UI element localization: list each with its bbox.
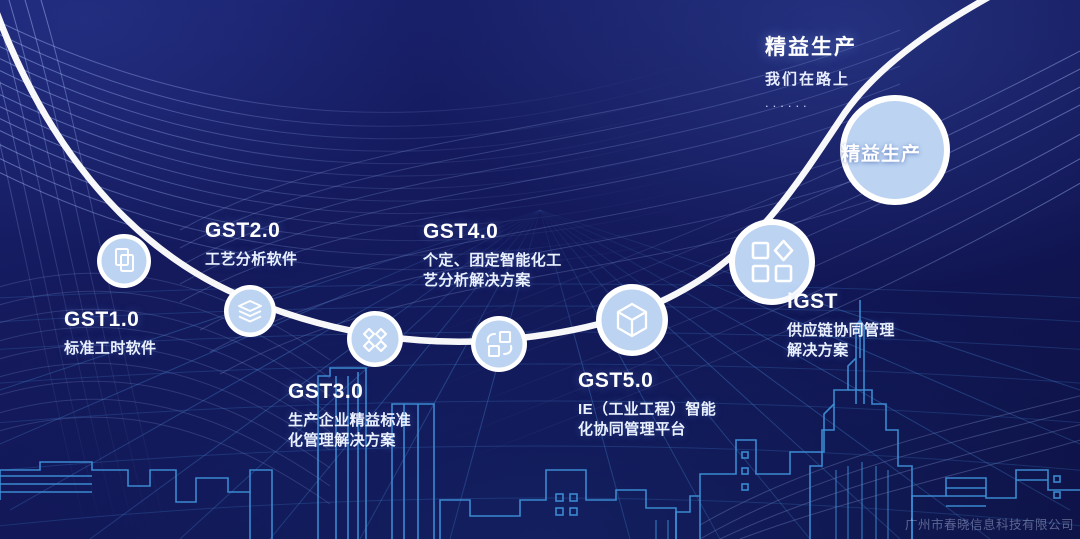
label-gst2-title: GST2.0 [205, 219, 297, 243]
label-gst3-subtitle: 生产企业精益标准 化管理解决方案 [288, 411, 411, 452]
label-gst5[interactable]: GST5.0 IE（工业工程）智能 化协同管理平台 [578, 369, 716, 441]
label-gst1[interactable]: GST1.0 标准工时软件 [64, 308, 156, 359]
label-igst[interactable]: iGST 供应链协同管理 解决方案 [787, 290, 895, 362]
node-gst2[interactable] [224, 285, 276, 337]
hero-subtitle: 我们在路上 [765, 68, 857, 89]
label-igst-title: iGST [787, 290, 895, 314]
label-gst5-title: GST5.0 [578, 369, 716, 393]
hero-text-block: 精益生产 我们在路上 ...... [765, 31, 857, 110]
node-gst3[interactable] [347, 311, 403, 367]
label-gst3[interactable]: GST3.0 生产企业精益标准 化管理解决方案 [288, 380, 411, 452]
label-gst4-subtitle: 个定、团定智能化工 艺分析解决方案 [423, 251, 562, 292]
label-gst1-subtitle: 标准工时软件 [64, 339, 156, 359]
label-gst2[interactable]: GST2.0 工艺分析软件 [205, 219, 297, 270]
label-igst-subtitle: 供应链协同管理 解决方案 [787, 321, 895, 362]
label-gst4-title: GST4.0 [423, 220, 562, 244]
label-gst4[interactable]: GST4.0 个定、团定智能化工 艺分析解决方案 [423, 220, 562, 292]
roadmap-infographic: 精益生产 精益生产 我们在路上 ...... GST1.0 标准工时软件 GST… [0, 0, 1080, 539]
label-gst2-subtitle: 工艺分析软件 [205, 250, 297, 270]
node-gst1[interactable] [97, 234, 151, 288]
label-gst1-title: GST1.0 [64, 308, 156, 332]
watermark: 广州市春晓信息科技有限公司 [905, 514, 1074, 533]
hero-circle-label: 精益生产 [841, 139, 921, 166]
hero-dots: ...... [765, 95, 857, 110]
node-gst5[interactable] [596, 284, 668, 356]
label-gst5-subtitle: IE（工业工程）智能 化协同管理平台 [578, 400, 716, 441]
hero-title: 精益生产 [765, 31, 857, 61]
label-gst3-title: GST3.0 [288, 380, 411, 404]
node-gst4[interactable] [471, 316, 527, 372]
